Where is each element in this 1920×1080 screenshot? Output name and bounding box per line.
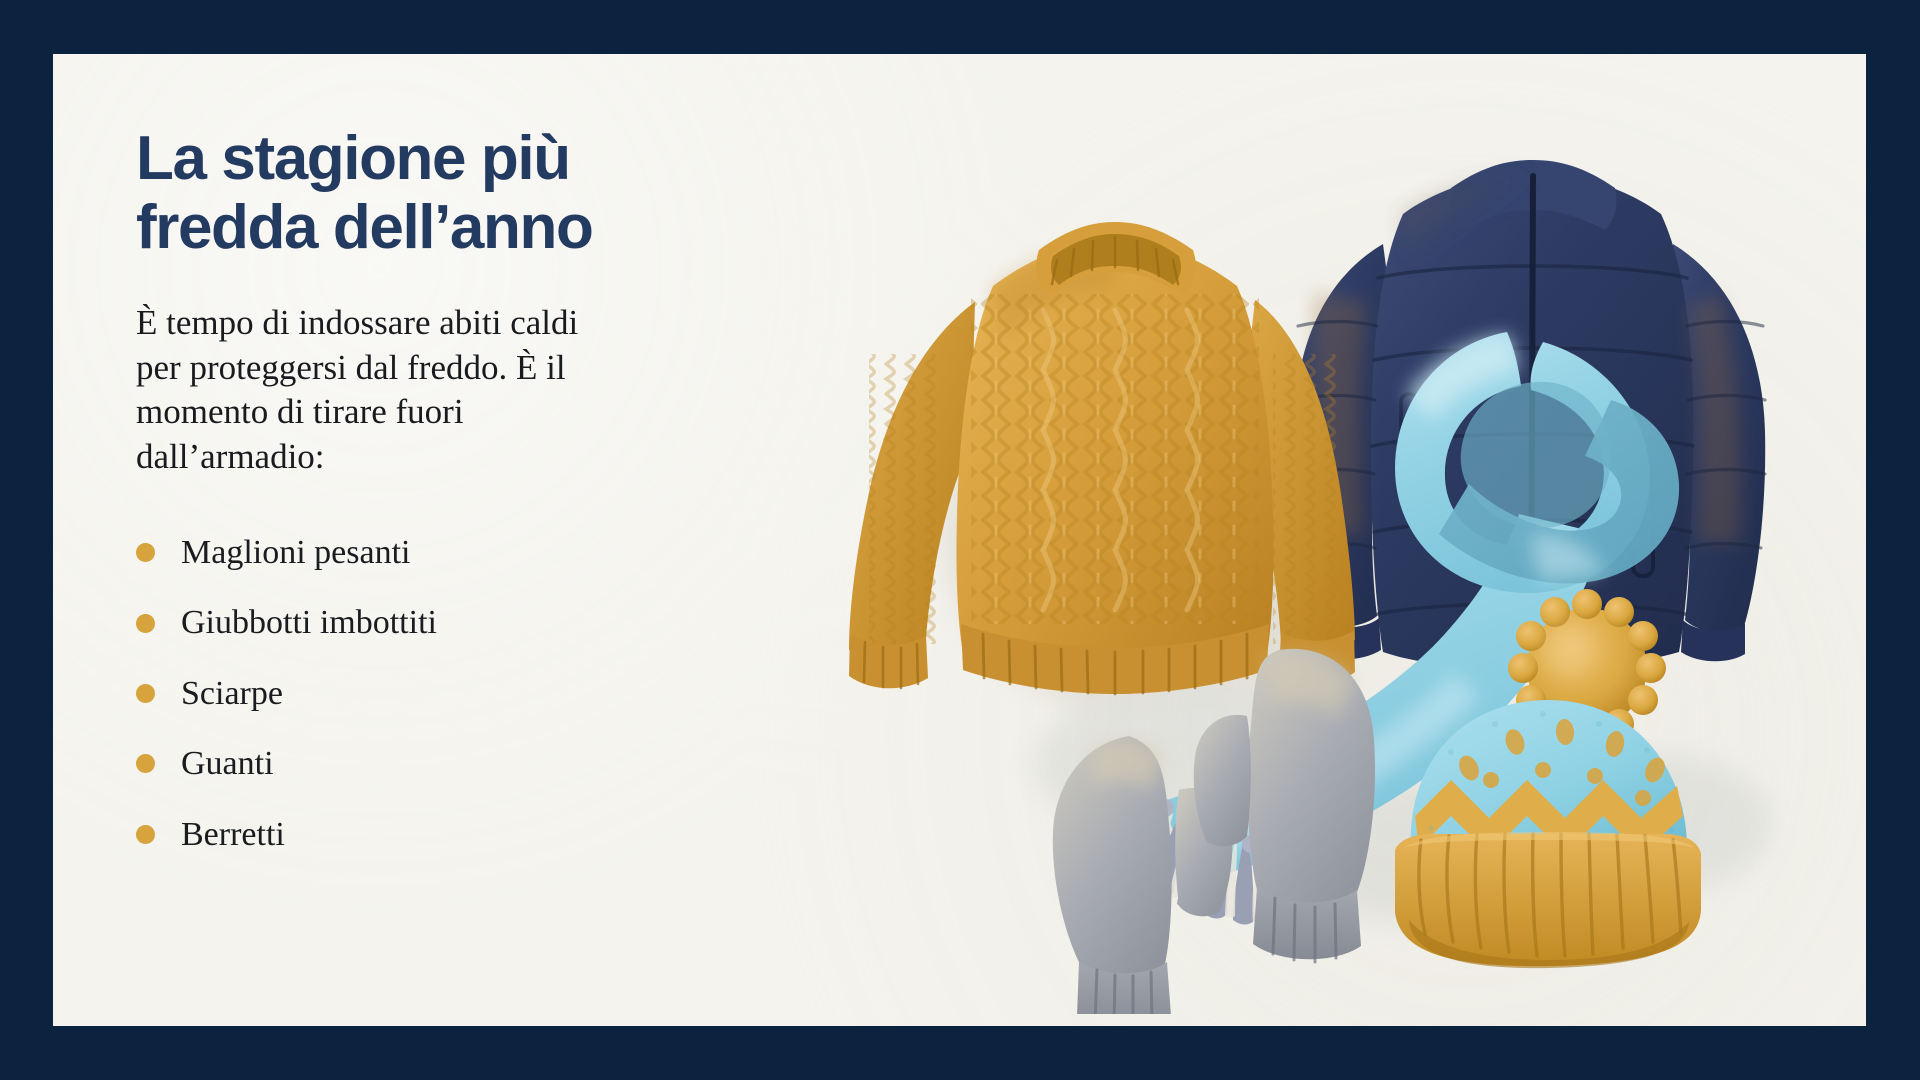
list-item-label: Giubbotti imbottiti	[181, 604, 437, 641]
bullet-dot-icon	[136, 684, 155, 703]
list-item-label: Maglioni pesanti	[181, 534, 410, 571]
bullet-dot-icon	[136, 825, 155, 844]
list-item: Berretti	[136, 816, 756, 853]
list-item-label: Berretti	[181, 816, 285, 853]
bullet-dot-icon	[136, 543, 155, 562]
slide-panel: La stagione più fredda dell’anno È tempo…	[53, 54, 1866, 1026]
list-item: Sciarpe	[136, 675, 756, 712]
list-item: Guanti	[136, 745, 756, 782]
bullet-dot-icon	[136, 614, 155, 633]
winter-clothing-illustration	[843, 64, 1853, 1014]
slide-frame: La stagione più fredda dell’anno È tempo…	[0, 0, 1920, 1080]
list-item: Giubbotti imbottiti	[136, 604, 756, 641]
list-item-label: Guanti	[181, 745, 274, 782]
cable-knit-sweater-illustration	[849, 222, 1355, 694]
bullet-dot-icon	[136, 754, 155, 773]
list-item-label: Sciarpe	[181, 675, 283, 712]
page-title: La stagione più fredda dell’anno	[136, 124, 756, 263]
text-column: La stagione più fredda dell’anno È tempo…	[136, 124, 756, 886]
list-item: Maglioni pesanti	[136, 534, 756, 571]
intro-paragraph: È tempo di indossare abiti caldi per pro…	[136, 301, 606, 480]
clothing-list: Maglioni pesanti Giubbotti imbottiti Sci…	[136, 534, 756, 853]
